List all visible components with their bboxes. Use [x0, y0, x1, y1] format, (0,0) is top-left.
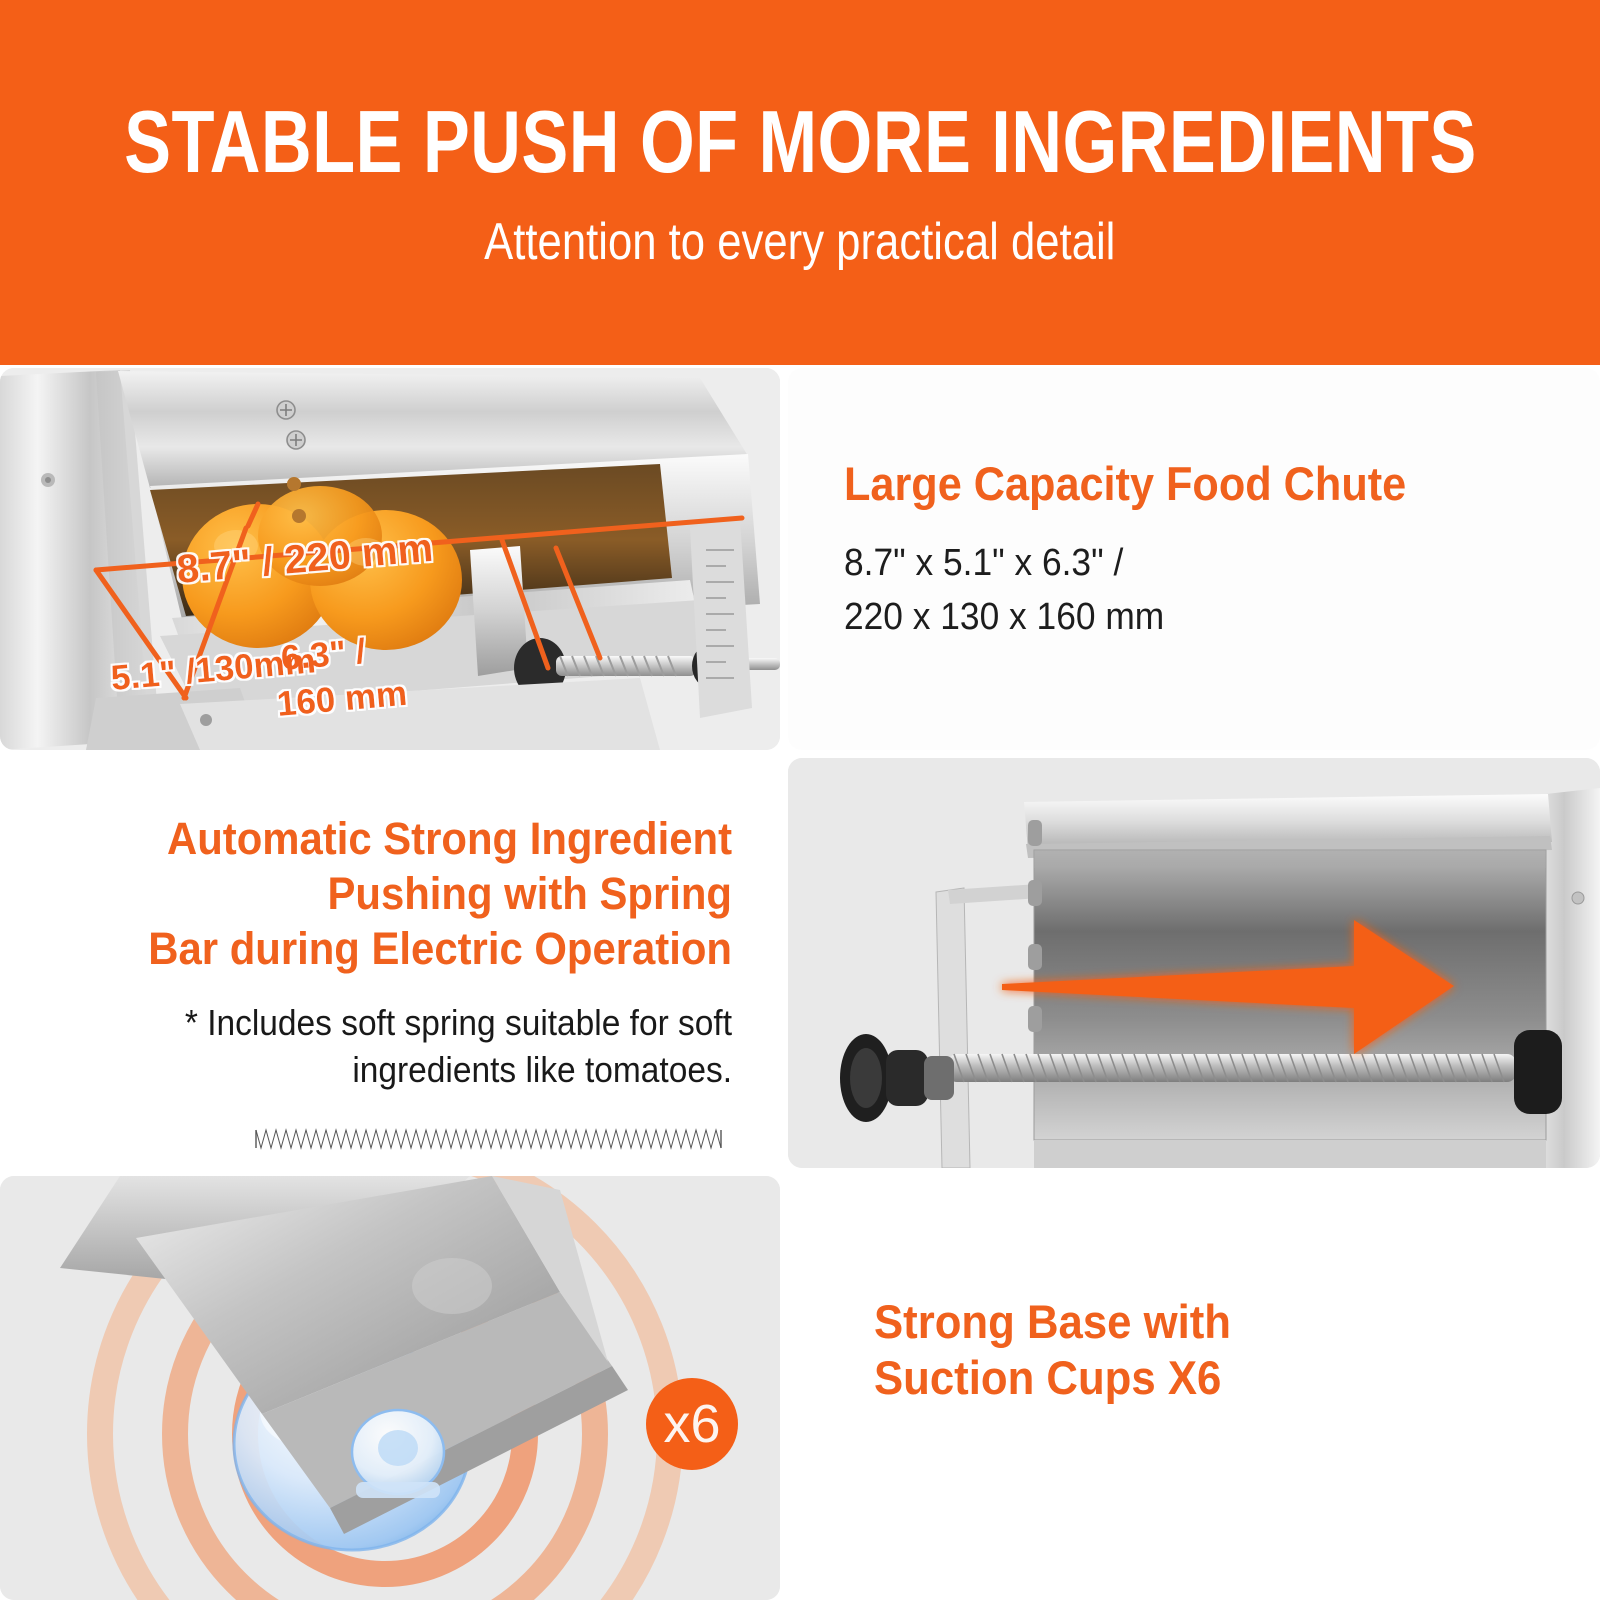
spring-title: Automatic Strong Ingredient Pushing with… — [77, 812, 732, 977]
food-chute-dimensions-mm: 220 x 130 x 160 mm — [844, 591, 1547, 645]
spring-text-panel: Automatic Strong Ingredient Pushing with… — [0, 758, 780, 1168]
suction-count-badge: x6 — [646, 1378, 738, 1470]
header-banner: STABLE PUSH OF MORE INGREDIENTS Attentio… — [0, 0, 1600, 365]
spring-note-line-2: ingredients like tomatoes. — [77, 1046, 732, 1094]
food-chute-text-panel: Large Capacity Food Chute 8.7" x 5.1" x … — [788, 368, 1600, 750]
suction-title: Strong Base with Suction Cups X6 — [874, 1294, 1549, 1407]
pusher-photo — [788, 758, 1600, 1168]
coil-spring-image — [254, 1124, 724, 1154]
food-chute-dimensions: 8.7" x 5.1" x 6.3" / 220 x 130 x 160 mm — [844, 537, 1547, 645]
suction-count-badge-label: x6 — [663, 1394, 720, 1454]
spring-title-line-1: Automatic Strong Ingredient — [77, 812, 732, 867]
food-chute-dimensions-inches: 8.7" x 5.1" x 6.3" / — [844, 537, 1547, 591]
food-chute-photo-panel: Reach out to the food chute and touch th… — [0, 368, 780, 750]
pusher-photo-panel — [788, 758, 1600, 1168]
food-chute-photo: Reach out to the food chute and touch th… — [0, 368, 780, 750]
spring-title-line-2: Pushing with Spring — [77, 867, 732, 922]
suction-text-panel: Strong Base with Suction Cups X6 — [788, 1176, 1600, 1600]
infographic-page: STABLE PUSH OF MORE INGREDIENTS Attentio… — [0, 0, 1600, 1600]
suction-title-line-1: Strong Base with — [874, 1294, 1549, 1350]
dimension-height-text-1: 6.3" / — [279, 632, 367, 678]
spring-title-line-3: Bar during Electric Operation — [77, 922, 732, 977]
page-subtitle: Attention to every practical detail — [484, 216, 1115, 268]
suction-photo: x6 — [0, 1176, 780, 1600]
page-title: STABLE PUSH OF MORE INGREDIENTS — [124, 98, 1477, 186]
suction-title-line-2: Suction Cups X6 — [874, 1350, 1549, 1406]
spring-note: * Includes soft spring suitable for soft… — [77, 999, 732, 1094]
food-chute-title: Large Capacity Food Chute — [844, 458, 1540, 511]
suction-photo-panel: x6 — [0, 1176, 780, 1600]
spring-note-line-1: * Includes soft spring suitable for soft — [77, 999, 732, 1047]
